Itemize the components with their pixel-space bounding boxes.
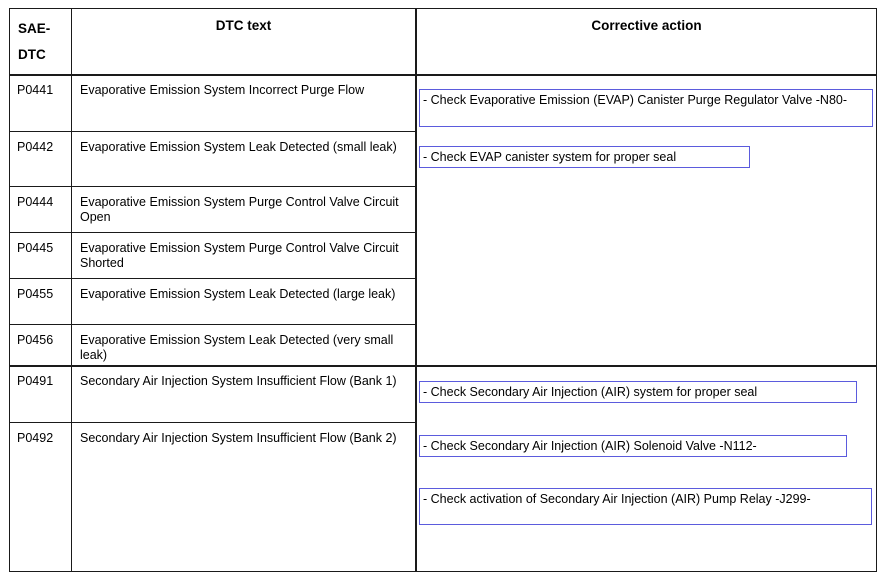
dtc-table: SAE- DTC DTC text Corrective action P044… — [9, 8, 877, 572]
dtc-description: Evaporative Emission System Leak Detecte… — [72, 279, 415, 302]
table-row: P0442 Evaporative Emission System Leak D… — [10, 132, 415, 186]
header-sae-line2: DTC — [18, 42, 71, 68]
corrective-action-box: - Check Secondary Air Injection (AIR) So… — [419, 435, 847, 457]
header-cell-sae-dtc: SAE- DTC — [10, 9, 71, 75]
corrective-action-box: - Check Evaporative Emission (EVAP) Cani… — [419, 89, 873, 127]
dtc-code: P0445 — [10, 233, 71, 256]
dtc-description: Secondary Air Injection System Insuffici… — [72, 366, 415, 389]
table-row: P0441 Evaporative Emission System Incorr… — [10, 75, 415, 131]
header-sae-line1: SAE- — [18, 21, 50, 36]
dtc-code: P0456 — [10, 325, 71, 348]
dtc-code: P0441 — [10, 75, 71, 98]
dtc-code: P0442 — [10, 132, 71, 155]
table-row: P0444 Evaporative Emission System Purge … — [10, 187, 415, 232]
corrective-action-box: - Check activation of Secondary Air Inje… — [419, 488, 872, 525]
document-page: SAE- DTC DTC text Corrective action P044… — [0, 0, 895, 584]
dtc-code: P0491 — [10, 366, 71, 389]
dtc-description: Evaporative Emission System Purge Contro… — [72, 187, 415, 225]
table-row: P0492 Secondary Air Injection System Ins… — [10, 423, 415, 572]
dtc-code: P0455 — [10, 279, 71, 302]
dtc-description: Evaporative Emission System Incorrect Pu… — [72, 75, 415, 98]
header-cell-dtc-text: DTC text — [72, 9, 415, 75]
corrective-action-box: - Check Secondary Air Injection (AIR) sy… — [419, 381, 857, 403]
table-row: P0491 Secondary Air Injection System Ins… — [10, 366, 415, 422]
table-row: P0456 Evaporative Emission System Leak D… — [10, 325, 415, 365]
dtc-description: Secondary Air Injection System Insuffici… — [72, 423, 415, 446]
corrective-action-box: - Check EVAP canister system for proper … — [419, 146, 750, 168]
column-divider-dtc-corrective — [415, 9, 417, 571]
dtc-code: P0444 — [10, 187, 71, 210]
table-row: P0445 Evaporative Emission System Purge … — [10, 233, 415, 278]
table-row: P0455 Evaporative Emission System Leak D… — [10, 279, 415, 324]
dtc-description: Evaporative Emission System Leak Detecte… — [72, 132, 415, 155]
dtc-description: Evaporative Emission System Leak Detecte… — [72, 325, 415, 363]
dtc-description: Evaporative Emission System Purge Contro… — [72, 233, 415, 271]
header-cell-corrective-action: Corrective action — [417, 9, 876, 75]
dtc-code: P0492 — [10, 423, 71, 446]
